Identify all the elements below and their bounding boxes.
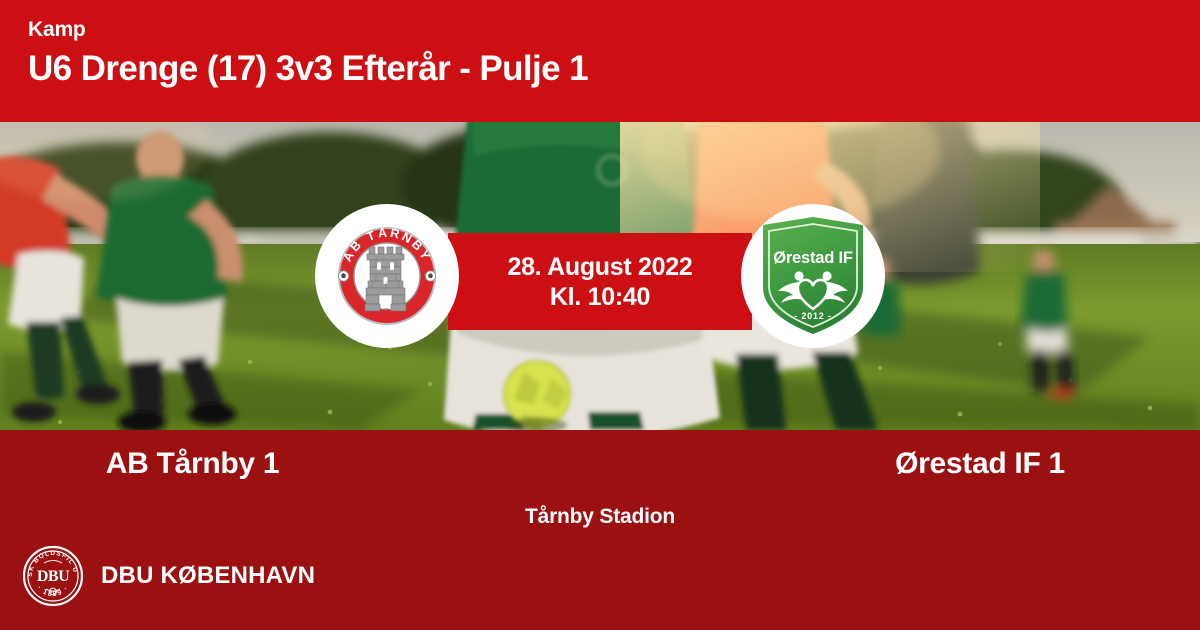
svg-text:- 2012 -: - 2012 -	[794, 311, 831, 321]
home-team-crest: AB TÅRNBY 2009	[315, 204, 459, 348]
poster-header: Kamp U6 Drenge (17) 3v3 Efterår - Pulje …	[0, 0, 1200, 122]
dbu-logo-icon: DANSK BOLDSPIL UNION · 1889 · DBU	[22, 545, 84, 607]
away-team-crest: Ørestad IF - 2012 -	[741, 204, 885, 348]
organisation-footer: DANSK BOLDSPIL UNION · 1889 · DBU DBU KØ…	[22, 545, 315, 607]
away-team-name: Ørestad IF 1	[600, 447, 1200, 481]
page-title: U6 Drenge (17) 3v3 Efterår - Pulje 1	[28, 46, 1200, 92]
svg-text:Ørestad IF: Ørestad IF	[773, 249, 853, 267]
match-date-banner: 28. August 2022 Kl. 10:40	[448, 233, 752, 330]
match-date: 28. August 2022	[508, 252, 693, 282]
organisation-name: DBU KØBENHAVN	[101, 562, 315, 590]
oerestad-if-logo-icon: Ørestad IF - 2012 -	[757, 215, 869, 337]
header-kicker: Kamp	[28, 18, 1200, 42]
match-time: Kl. 10:40	[550, 282, 650, 312]
ab-taarnby-logo-icon: AB TÅRNBY 2009	[328, 217, 446, 335]
team-names-row: AB Tårnby 1 Ørestad IF 1	[0, 447, 1200, 481]
home-team-name: AB Tårnby 1	[0, 447, 600, 481]
match-poster: Kamp U6 Drenge (17) 3v3 Efterår - Pulje …	[0, 0, 1200, 630]
dbu-badge: DANSK BOLDSPIL UNION · 1889 · DBU	[22, 545, 84, 607]
match-venue: Tårnby Stadion	[0, 505, 1200, 529]
svg-text:DBU: DBU	[37, 568, 70, 585]
